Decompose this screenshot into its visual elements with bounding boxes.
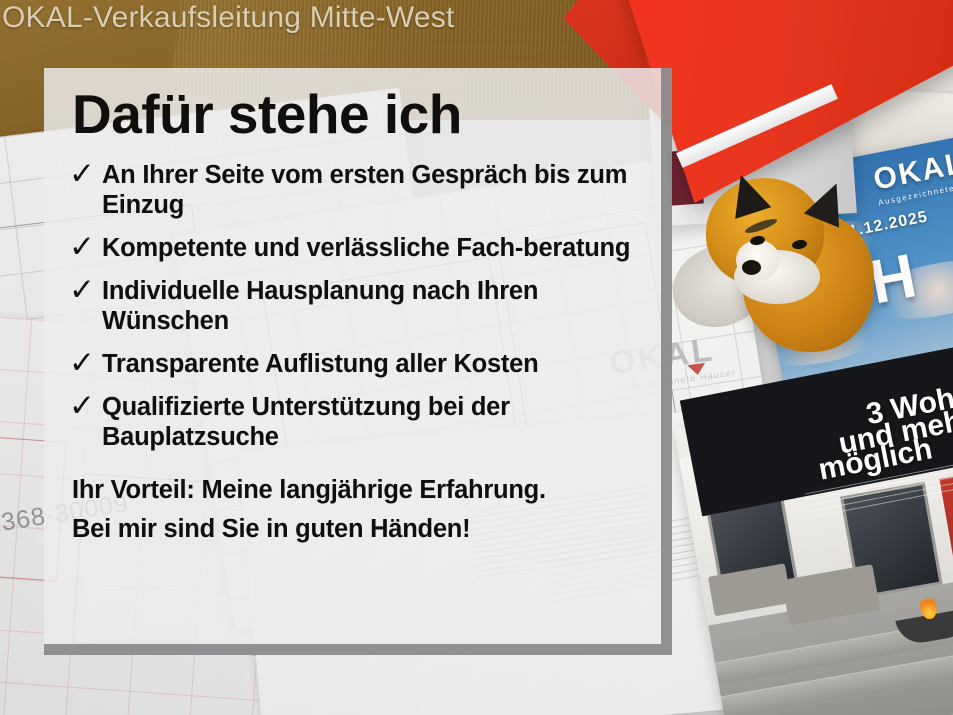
poster-brand-logo: OKAL Ausgezeichnete Häuser — [871, 142, 953, 207]
checkmark-icon: ✓ — [62, 158, 102, 189]
fox-brow — [744, 216, 779, 235]
list-item: ✓ Qualifizierte Unterstützung bei der Ba… — [62, 392, 645, 452]
checkmark-icon: ✓ — [62, 231, 102, 262]
list-item-label: Kompetente und verlässliche Fach-beratun… — [102, 233, 630, 263]
list-item-label: Individuelle Hausplanung nach Ihren Wüns… — [102, 276, 645, 336]
closing-line-1: Ihr Vorteil: Meine langjährige Erfahrung… — [72, 472, 645, 508]
closing-line-2: Bei mir sind Sie in guten Händen! — [72, 511, 645, 547]
list-item-label: An Ihrer Seite vom ersten Gespräch bis z… — [102, 160, 645, 220]
checkmark-icon: ✓ — [62, 274, 102, 305]
checkmark-icon: ✓ — [62, 390, 102, 421]
closing-statement: Ihr Vorteil: Meine langjährige Erfahrung… — [72, 472, 645, 546]
slide-canvas: 1368-30009 OKAL Ausgezeichnete Häuser OK… — [0, 0, 953, 715]
fox-head — [706, 178, 824, 286]
list-item: ✓ Kompetente und verlässliche Fach-berat… — [62, 233, 645, 263]
page-title: OKAL-Verkaufsleitung Mitte-West — [0, 0, 455, 35]
fox-snout — [736, 240, 780, 280]
fox-ear-left — [723, 169, 772, 219]
fox-eye-right — [791, 239, 807, 250]
list-item-label: Qualifizierte Unterstützung bei der Baup… — [102, 392, 645, 452]
list-item: ✓ Transparente Auflistung aller Kosten — [62, 349, 645, 379]
panel-heading: Dafür stehe ich — [72, 86, 645, 144]
checkmark-icon: ✓ — [62, 347, 102, 378]
content-panel: Dafür stehe ich ✓ An Ihrer Seite vom ers… — [44, 68, 672, 655]
list-item: ✓ Individuelle Hausplanung nach Ihren Wü… — [62, 276, 645, 336]
list-item: ✓ An Ihrer Seite vom ersten Gespräch bis… — [62, 160, 645, 220]
benefits-list: ✓ An Ihrer Seite vom ersten Gespräch bis… — [62, 160, 645, 453]
fox-nose — [742, 260, 761, 275]
list-item-label: Transparente Auflistung aller Kosten — [102, 349, 538, 379]
plush-fox-figure — [690, 160, 880, 360]
fox-ear-right — [804, 176, 854, 227]
